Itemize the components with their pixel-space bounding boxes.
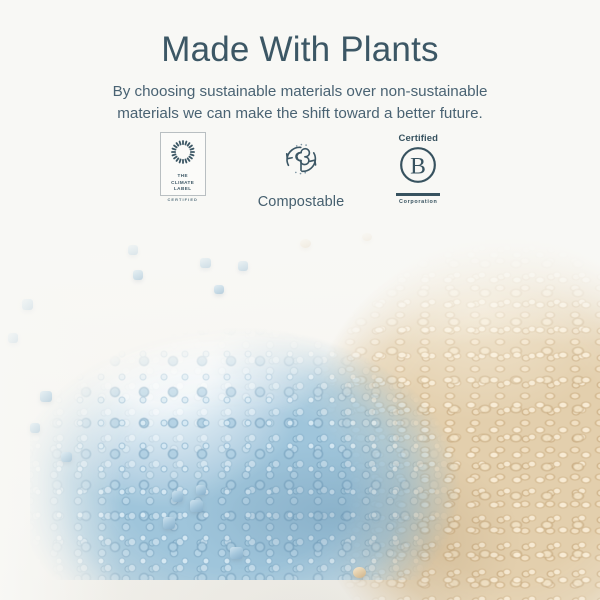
header: Made With Plants By choosing sustainable… — [0, 0, 600, 126]
b-corp-certified-text: Certified — [399, 133, 438, 144]
loose-pellet — [196, 485, 206, 495]
loose-pellet — [353, 567, 366, 578]
climate-certified-text: CERTIFIED — [168, 197, 198, 202]
b-corp-icon: B — [398, 145, 438, 190]
climate-label-box: THE CLIMATE LABEL CERTIFIED — [160, 132, 206, 196]
compostable-clover-icon — [276, 136, 326, 187]
climate-label-text: THE CLIMATE LABEL — [171, 173, 194, 193]
subtitle-line-1: By choosing sustainable materials over n… — [65, 81, 535, 103]
badge-b-corp[interactable]: Certified B Corporation — [396, 132, 440, 205]
subtitle-line-2: materials we can make the shift toward a… — [65, 103, 535, 125]
loose-pellet — [172, 491, 183, 502]
b-corp-corporation-text: Corporation — [399, 199, 438, 205]
sunburst-icon — [169, 138, 197, 171]
b-corp-divider — [396, 193, 440, 196]
badge-compostable[interactable]: Compostable — [258, 132, 345, 210]
svg-text:B: B — [410, 154, 426, 180]
badge-climate-label[interactable]: THE CLIMATE LABEL CERTIFIED — [160, 132, 206, 196]
page-title: Made With Plants — [0, 0, 600, 69]
photo-top-fade — [0, 195, 600, 345]
loose-pellet — [230, 547, 243, 559]
page-subtitle: By choosing sustainable materials over n… — [65, 81, 535, 125]
compostable-label: Compostable — [258, 194, 345, 210]
climate-line-3: LABEL — [171, 186, 194, 193]
loose-pellet — [190, 500, 203, 512]
certification-badges: THE CLIMATE LABEL CERTIFIED — [0, 132, 600, 210]
climate-line-1: THE — [171, 173, 194, 180]
poster-canvas: Made With Plants By choosing sustainable… — [0, 0, 600, 600]
pellet-photo — [0, 195, 600, 600]
climate-line-2: CLIMATE — [171, 180, 194, 187]
loose-pellet — [163, 517, 175, 529]
